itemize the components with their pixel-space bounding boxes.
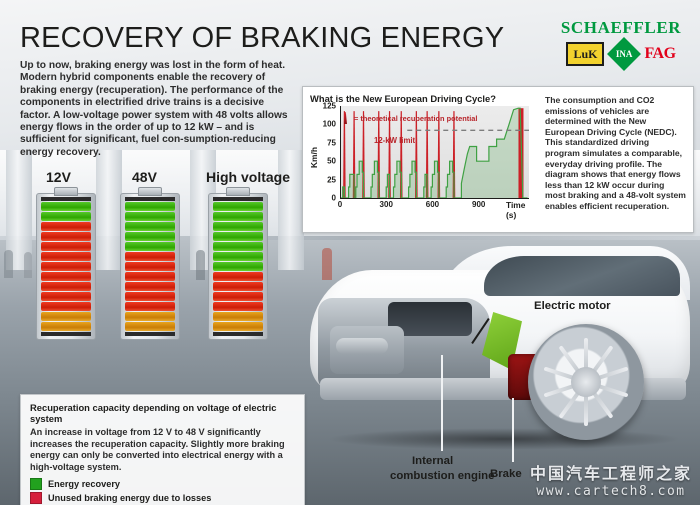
- fag-logo-icon: FAG: [644, 45, 675, 63]
- battery-cell-energy-recovery: [213, 212, 263, 221]
- combustion-engine-cylinder: [336, 338, 388, 354]
- background-figure: [24, 252, 32, 278]
- battery-cell-unused-energy: [125, 262, 175, 271]
- car-shadow: [326, 428, 682, 450]
- battery-top-cap: [213, 197, 263, 201]
- battery-bottom-cap: [41, 332, 91, 336]
- car-window: [484, 256, 680, 296]
- infobox-heading: Recuperation capacity depending on volta…: [30, 402, 295, 424]
- battery-cell-energy-recovery: [213, 262, 263, 271]
- battery-cell-unused-energy: [213, 282, 263, 291]
- battery-terminal: [54, 187, 78, 196]
- battery-cell-unused-energy: [41, 232, 91, 241]
- callout-brake: Brake: [490, 468, 522, 480]
- battery-cells: [40, 202, 92, 331]
- brand-wordmark: SCHAEFFLER: [551, 18, 691, 38]
- battery-bottom-cap: [213, 332, 263, 336]
- battery-cell-energy-recovery: [213, 252, 263, 261]
- legend-label: Unused braking energy due to losses: [48, 493, 211, 503]
- battery-cell-unused-energy: [125, 302, 175, 311]
- brand-logo-row: LuK INA FAG: [551, 42, 691, 66]
- battery-voltage-label: 48V: [132, 169, 157, 185]
- chart-plot-wrapper: Km/h 0255075100125 = theoretical recuper…: [310, 106, 536, 218]
- battery-cell-energy-recovery: [41, 202, 91, 211]
- callout-ice-line2: combustion engine: [390, 470, 494, 482]
- battery-cell-unused-energy: [41, 292, 91, 301]
- battery-cell-road-resistance: [213, 322, 263, 331]
- car-illustration: [296, 246, 700, 476]
- battery-terminal: [226, 187, 250, 196]
- battery-cell-unused-energy: [41, 242, 91, 251]
- infobox-legend: Energy recoveryUnused braking energy due…: [30, 478, 295, 505]
- nedc-panel: What is the New European Driving Cycle? …: [302, 86, 694, 233]
- chart-y-tick: 0: [332, 194, 336, 203]
- legend-swatch: [30, 478, 42, 490]
- battery-cell-energy-recovery: [125, 202, 175, 211]
- background-figure: [4, 250, 13, 278]
- battery-cell-road-resistance: [41, 312, 91, 321]
- battery-cell-unused-energy: [125, 252, 175, 261]
- battery-cell-road-resistance: [125, 322, 175, 331]
- callout-ice-line1: Internal: [412, 455, 453, 467]
- chart-legend-note: = theoretical recuperation potential: [354, 114, 477, 123]
- battery-cell-unused-energy: [125, 292, 175, 301]
- battery-cell-road-resistance: [213, 312, 263, 321]
- chart-title: What is the New European Driving Cycle?: [310, 93, 537, 104]
- infographic-root: RECOVERY OF BRAKING ENERGY Up to now, br…: [0, 0, 700, 505]
- battery-cell-unused-energy: [213, 292, 263, 301]
- battery-cell-unused-energy: [41, 222, 91, 231]
- background-figure: [196, 250, 205, 280]
- nedc-desc-part2: . This standardized driving program simu…: [545, 127, 686, 211]
- callout-leader-brake: [512, 398, 514, 462]
- chart-y-tick: 25: [327, 175, 336, 184]
- battery-cells: [124, 202, 176, 331]
- battery-cell-energy-recovery: [213, 242, 263, 251]
- chart-x-tick: 600: [426, 200, 439, 209]
- battery-top-cap: [125, 197, 175, 201]
- battery-cell-unused-energy: [213, 302, 263, 311]
- battery-shell: [208, 193, 268, 340]
- watermark-chinese: 中国汽车工程师之家: [530, 460, 692, 484]
- chart-x-tick: 900: [472, 200, 485, 209]
- legend-label: Energy recovery: [48, 479, 120, 489]
- ina-logo-icon: INA: [607, 37, 641, 71]
- battery-terminal: [138, 187, 162, 196]
- page-title: RECOVERY OF BRAKING ENERGY: [20, 22, 504, 55]
- luk-logo-icon: LuK: [566, 42, 604, 66]
- battery-cell-energy-recovery: [213, 222, 263, 231]
- battery-12v: [36, 193, 96, 340]
- chart-area: What is the New European Driving Cycle? …: [303, 87, 539, 232]
- battery-cell-road-resistance: [125, 312, 175, 321]
- battery-cell-road-resistance: [41, 322, 91, 331]
- battery-48v: [120, 193, 180, 340]
- car-wheel: [528, 324, 644, 440]
- background-pillar: [96, 150, 122, 270]
- legend-item: Unused braking energy due to losses: [30, 492, 295, 504]
- watermark-url: www.cartech8.com: [530, 484, 692, 499]
- chart-y-tick: 75: [327, 138, 336, 147]
- battery-cell-energy-recovery: [41, 212, 91, 221]
- callout-leader-ice: [441, 355, 443, 451]
- battery-cell-unused-energy: [125, 282, 175, 291]
- chart-x-axis-label: Time (s): [506, 200, 536, 220]
- brand-block: SCHAEFFLER LuK INA FAG: [551, 18, 691, 78]
- battery-cell-unused-energy: [41, 272, 91, 281]
- battery-cell-unused-energy: [41, 262, 91, 271]
- legend-swatch: [30, 492, 42, 504]
- battery-shell: [120, 193, 180, 340]
- battery-cell-unused-energy: [125, 272, 175, 281]
- battery-cell-unused-energy: [41, 302, 91, 311]
- chart-y-tick: 125: [323, 102, 336, 111]
- battery-voltage-label: High voltage: [206, 169, 290, 185]
- legend-item: Energy recovery: [30, 478, 295, 490]
- chart-y-tick: 100: [323, 120, 336, 129]
- battery-top-cap: [41, 197, 91, 201]
- wheel-hub: [571, 367, 601, 397]
- infobox-body: An increase in voltage from 12 V to 48 V…: [30, 427, 295, 473]
- chart-y-tick: 50: [327, 157, 336, 166]
- chart-x-tick: 0: [338, 200, 342, 209]
- battery-cell-energy-recovery: [213, 232, 263, 241]
- battery-voltage-label: 12V: [46, 169, 71, 185]
- chart-x-ticks: 0300600900: [340, 200, 530, 214]
- battery-high-voltage: [208, 193, 268, 340]
- battery-shell: [36, 193, 96, 340]
- ina-logo-label: INA: [616, 49, 633, 59]
- watermark: 中国汽车工程师之家 www.cartech8.com: [530, 460, 692, 499]
- nedc-description: The consumption and CO2 emissions of veh…: [539, 87, 693, 232]
- battery-cell-energy-recovery: [125, 212, 175, 221]
- battery-cell-energy-recovery: [213, 202, 263, 211]
- chart-x-tick: 300: [380, 200, 393, 209]
- kw-limit-label: 12-kW limit: [374, 136, 415, 145]
- recuperation-infobox: Recuperation capacity depending on volta…: [20, 394, 305, 505]
- battery-cell-energy-recovery: [125, 222, 175, 231]
- intro-paragraph: Up to now, braking energy was lost in th…: [20, 60, 296, 159]
- battery-cell-energy-recovery: [125, 242, 175, 251]
- battery-cell-energy-recovery: [125, 232, 175, 241]
- battery-cells: [212, 202, 264, 331]
- battery-cell-unused-energy: [41, 282, 91, 291]
- battery-bottom-cap: [125, 332, 175, 336]
- callout-electric-motor: Electric motor: [534, 300, 611, 312]
- battery-cell-unused-energy: [213, 272, 263, 281]
- recuperation-spike: [343, 111, 346, 198]
- chart-y-ticks: 0255075100125: [318, 106, 338, 198]
- battery-cell-unused-energy: [41, 252, 91, 261]
